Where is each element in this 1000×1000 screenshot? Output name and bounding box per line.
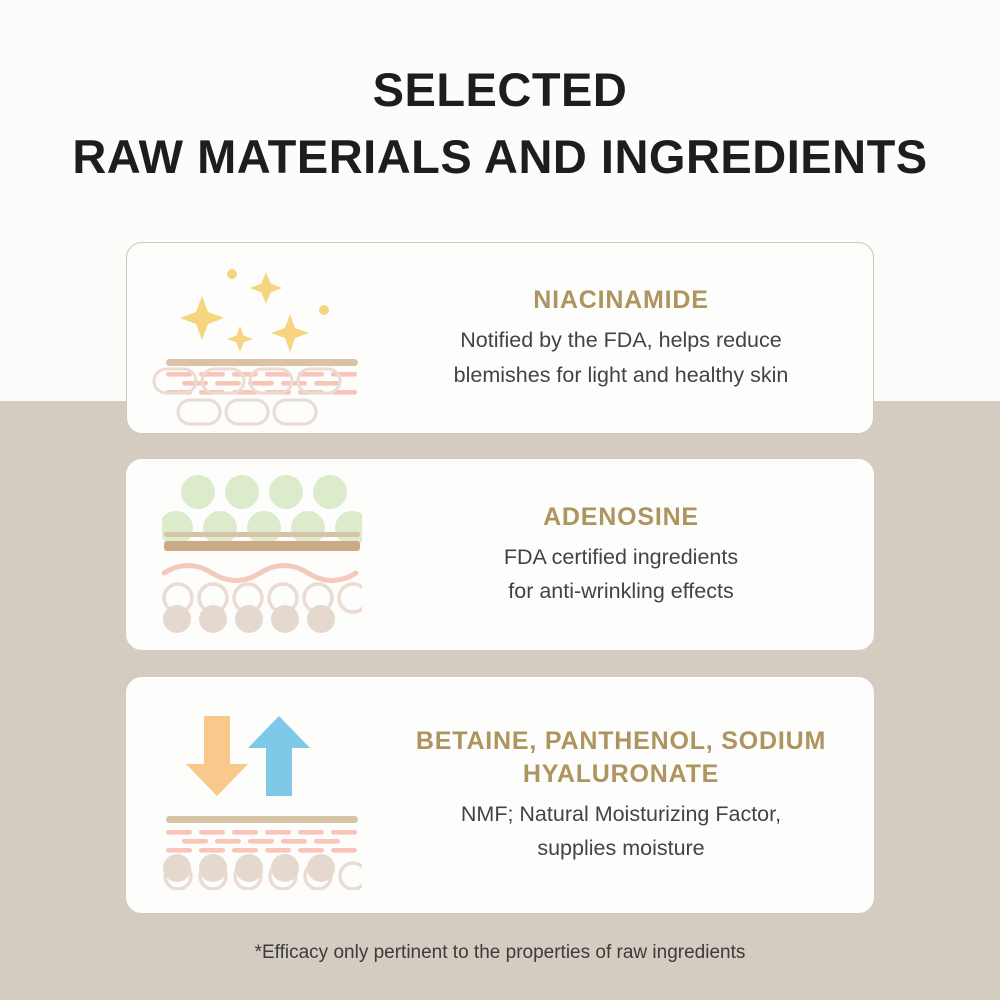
footnote-disclaimer: *Efficacy only pertinent to the properti… xyxy=(0,942,1000,964)
page-title: SELECTED RAW MATERIALS AND INGREDIENTS xyxy=(0,66,1000,180)
ingredient-description-line-1: FDA certified ingredients xyxy=(397,540,845,574)
ingredient-description-line-1: Notified by the FDA, helps reduce xyxy=(397,323,845,357)
ingredient-description: FDA certified ingredients for anti-wrink… xyxy=(397,540,845,609)
page-title-line-2: RAW MATERIALS AND INGREDIENTS xyxy=(0,133,1000,180)
card-text-container: NIACINAMIDE Notified by the FDA, helps r… xyxy=(397,284,873,392)
infographic-page: SELECTED RAW MATERIALS AND INGREDIENTS xyxy=(0,0,1000,1000)
subcutaneous-circles-card-2 xyxy=(152,597,342,641)
ingredient-description-line-1: NMF; Natural Moisturizing Factor, xyxy=(397,797,845,831)
ingredient-name-line-1: BETAINE, PANTHENOL, xyxy=(416,727,714,755)
ingredient-name: NIACINAMIDE xyxy=(397,284,845,317)
card-text-container: ADENOSINE FDA certified ingredients for … xyxy=(397,501,873,609)
subcutaneous-capsules-card-1 xyxy=(152,366,342,428)
ingredient-description-line-2: blemishes for light and healthy skin xyxy=(397,358,845,392)
ingredient-description: NMF; Natural Moisturizing Factor, suppli… xyxy=(397,797,845,866)
ingredient-description: Notified by the FDA, helps reduce blemis… xyxy=(397,323,845,392)
ingredient-description-line-2: for anti-wrinkling effects xyxy=(397,574,845,608)
ingredient-description-line-2: supplies moisture xyxy=(397,831,845,865)
ingredient-name: BETAINE, PANTHENOL, SODIUM HYALURONATE xyxy=(397,725,845,791)
ingredient-name: ADENOSINE xyxy=(397,501,845,534)
arrow-down-icon xyxy=(186,716,248,796)
card-text-container: BETAINE, PANTHENOL, SODIUM HYALURONATE N… xyxy=(397,725,873,866)
arrow-up-icon xyxy=(248,716,310,796)
subcutaneous-circles-card-3 xyxy=(152,846,342,890)
page-title-line-1: SELECTED xyxy=(0,66,1000,113)
